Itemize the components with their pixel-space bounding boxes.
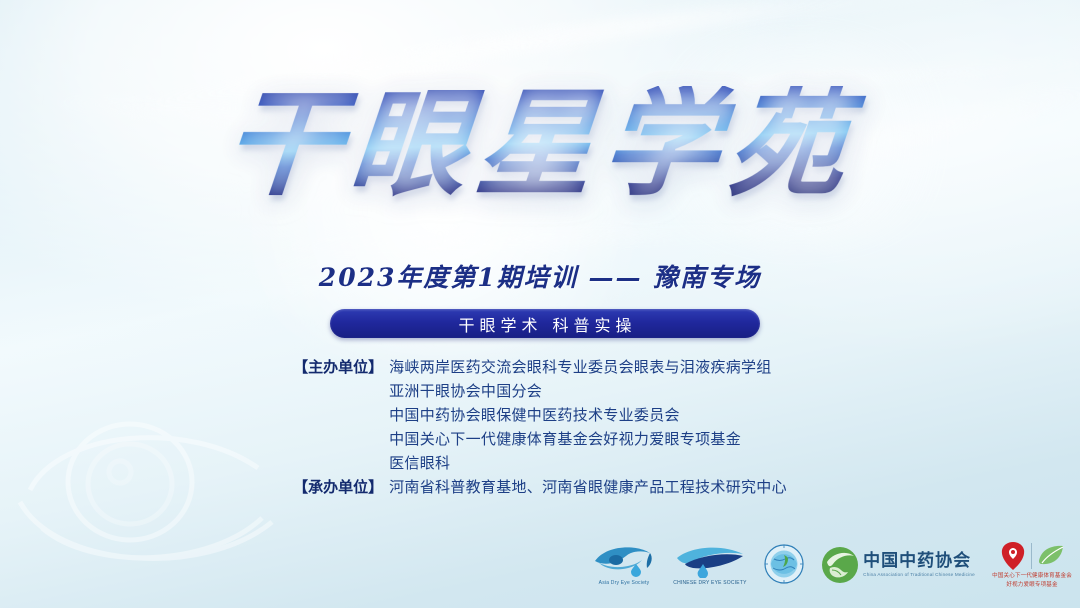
page-title: 干眼星学苑 <box>206 86 874 202</box>
poster-canvas: 干眼星学苑 2023年度第1期培训 —— 豫南专场 干眼学术 科普实操 【主办单… <box>0 0 1080 608</box>
logo-asia-dry-eye-society: Asia Dry Eye Society <box>592 544 656 586</box>
organizer-row: 中国关心下一代健康体育基金会好视力爱眼专项基金 <box>293 427 787 451</box>
organizer-row: 亚洲干眼协会中国分会 <box>293 379 787 403</box>
organizer-row: 【主办单位】 海峡两岸医药交流会眼科专业委员会眼表与泪液疾病学组 <box>293 355 787 379</box>
organizer-value: 海峡两岸医药交流会眼科专业委员会眼表与泪液疾病学组 <box>389 355 772 379</box>
logo-strip: Asia Dry Eye Society CHINESE DRY EYE SOC… <box>592 534 1072 596</box>
organizer-value: 中国关心下一代健康体育基金会好视力爱眼专项基金 <box>389 427 741 451</box>
green-hand-leaf-icon <box>821 546 859 584</box>
logo-caption: Asia Dry Eye Society <box>599 580 650 586</box>
theme-banner: 干眼学术 科普实操 <box>330 309 760 338</box>
organizer-label: 【主办单位】 <box>293 356 389 380</box>
logo-caption-cn: 中国中药协会 <box>863 553 975 570</box>
organizer-value: 亚洲干眼协会中国分会 <box>389 379 542 403</box>
organizer-row: 医信眼科 <box>293 451 787 475</box>
logo-blue-circular-emblem <box>764 544 804 586</box>
chinese-dry-eye-society-icon <box>675 544 745 578</box>
blue-circular-emblem-icon <box>764 544 804 584</box>
organizer-label: 【承办单位】 <box>293 476 389 500</box>
logo-china-association-tcm: 中国中药协会 China Association of Traditional … <box>821 546 975 584</box>
logo-childrens-health-foundation: 中国关心下一代健康体育基金会 好视力爱眼专项基金 <box>992 541 1072 590</box>
logo-caption: CHINESE DRY EYE SOCIETY <box>673 580 746 586</box>
background-streak <box>250 221 890 253</box>
organizers-block: 【主办单位】 海峡两岸医药交流会眼科专业委员会眼表与泪液疾病学组 亚洲干眼协会中… <box>0 355 1080 499</box>
organizer-value: 河南省科普教育基地、河南省眼健康产品工程技术研究中心 <box>389 475 787 499</box>
organizer-row: 中国中药协会眼保健中医药技术专业委员会 <box>293 403 787 427</box>
red-foundation-emblem-icon <box>1000 541 1026 571</box>
organizer-row: 【承办单位】 河南省科普教育基地、河南省眼健康产品工程技术研究中心 <box>293 475 787 499</box>
asia-dry-eye-society-icon <box>592 544 656 578</box>
logo-chinese-dry-eye-society: CHINESE DRY EYE SOCIETY <box>673 544 746 586</box>
logo-caption-line2: 好视力爱眼专项基金 <box>1006 582 1057 589</box>
logo-caption-en: China Association of Traditional Chinese… <box>863 572 975 577</box>
green-leaf-icon <box>1037 543 1065 569</box>
logo-caption-line1: 中国关心下一代健康体育基金会 <box>992 573 1072 580</box>
background-streak <box>331 0 1028 64</box>
theme-banner-label: 干眼学术 科普实操 <box>453 312 636 336</box>
logo-divider <box>1031 543 1032 569</box>
title-block: 干眼星学苑 <box>0 86 1080 202</box>
organizer-value: 医信眼科 <box>389 451 450 475</box>
subtitle: 2023年度第1期培训 —— 豫南专场 <box>0 258 1080 294</box>
organizer-value: 中国中药协会眼保健中医药技术专业委员会 <box>389 403 680 427</box>
